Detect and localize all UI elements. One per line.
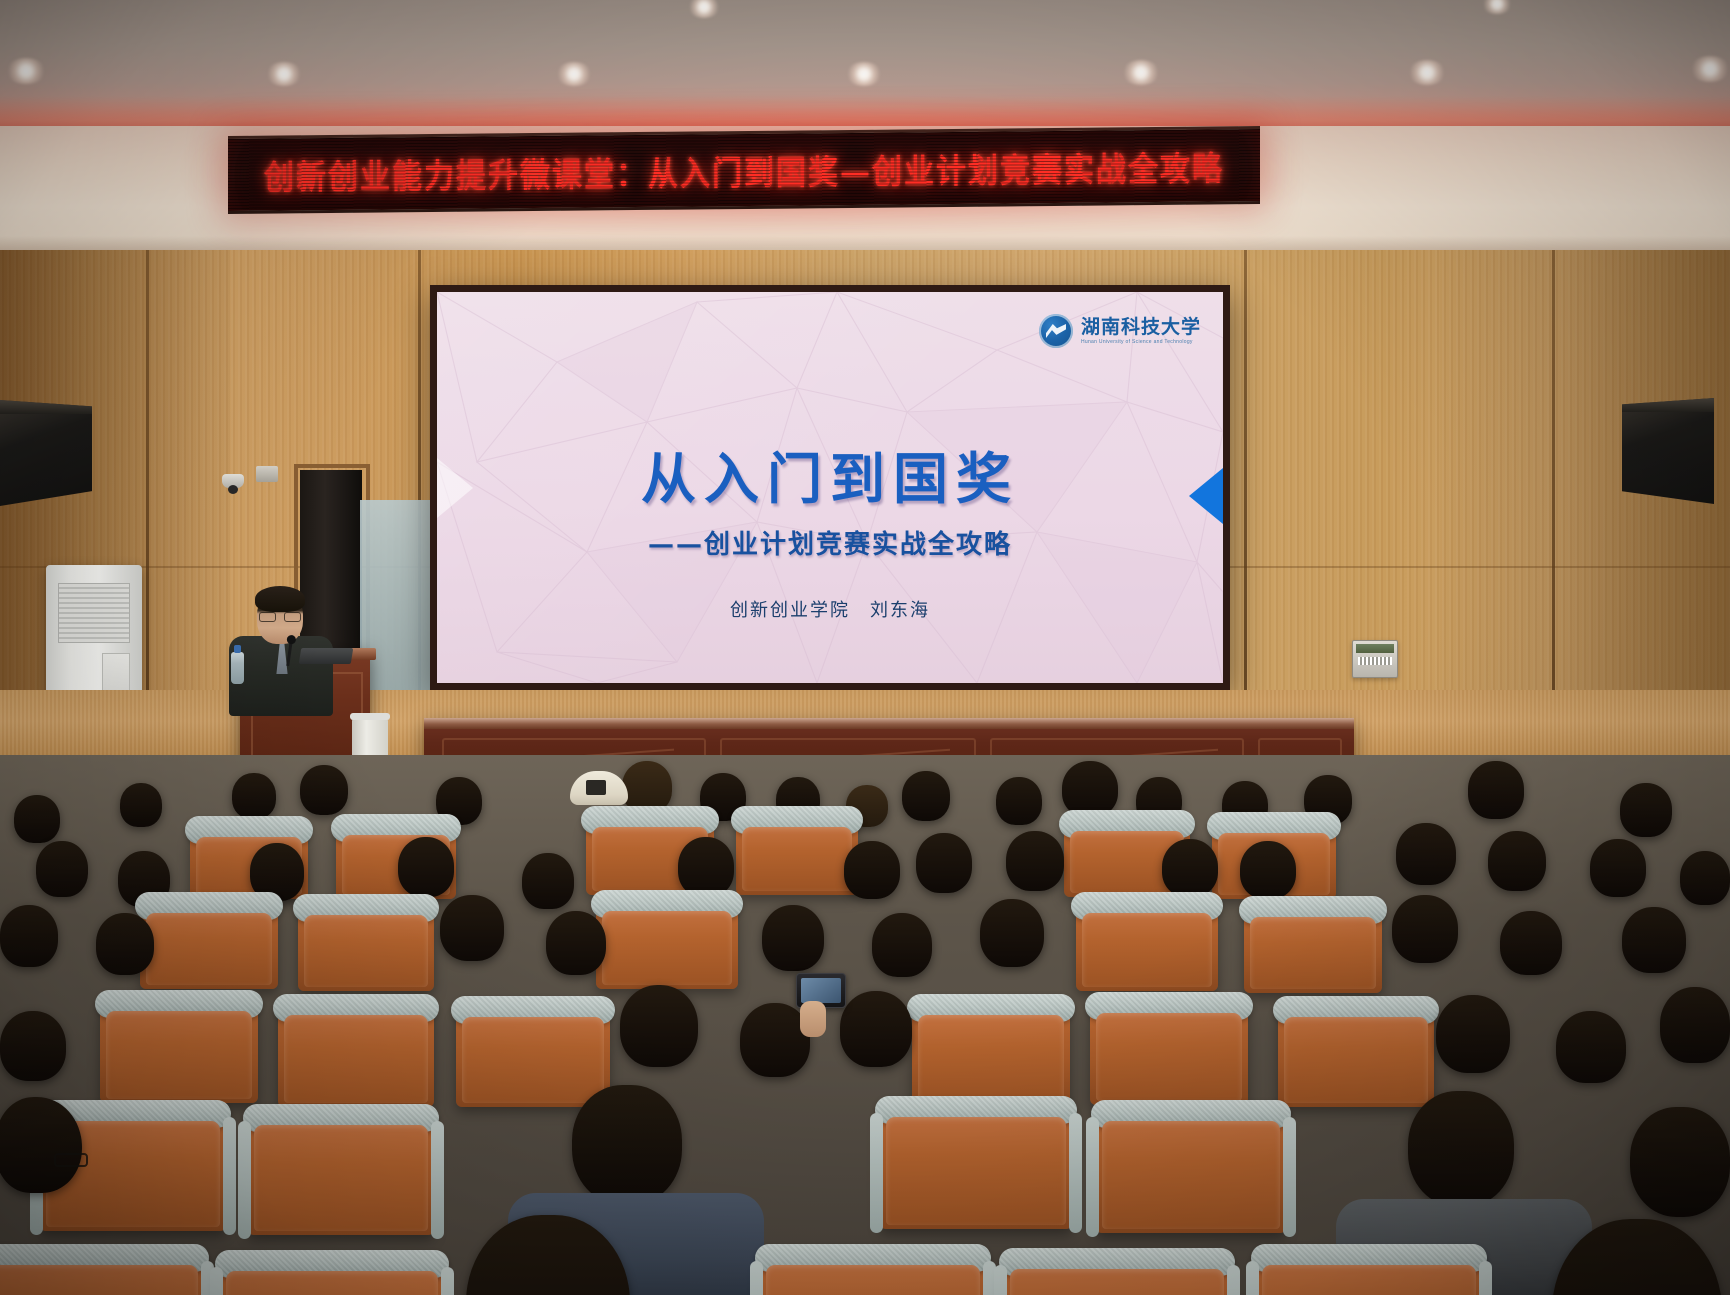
seat-back: [254, 1125, 428, 1231]
seat-armrest: [1479, 1261, 1492, 1295]
seat-back: [1102, 1121, 1280, 1229]
attendee-head: [980, 899, 1044, 967]
auditorium-seat[interactable]: [220, 1261, 444, 1295]
attendee-head: [1680, 851, 1730, 905]
university-name-cn: 湖南科技大学: [1081, 318, 1201, 337]
downlight-icon: [1408, 60, 1446, 85]
attendee-head: [572, 1085, 682, 1205]
attendee-head: [1622, 907, 1686, 973]
projection-screen-frame: 湖南科技大学 Hunan University of Science and T…: [430, 285, 1230, 690]
attendee-head: [440, 895, 504, 961]
seat-armrest: [1283, 1117, 1296, 1237]
seat-armrest: [994, 1265, 1007, 1295]
lecture-hall-photo: 创新创业能力提升微课堂：从入门到国奖—创业计划竞赛实战全攻略: [0, 0, 1730, 1295]
slide-subtitle: ——创业计划竞赛实战全攻略: [437, 524, 1223, 561]
attendee-head: [1660, 987, 1730, 1063]
white-cap: [570, 771, 628, 805]
university-emblem-icon: [1039, 314, 1073, 348]
led-banner: 创新创业能力提升微课堂：从入门到国奖—创业计划竞赛实战全攻略: [228, 126, 1260, 214]
auditorium-seat[interactable]: [1004, 1259, 1230, 1295]
seat-back: [766, 1265, 980, 1295]
attendee-head: [1500, 911, 1562, 975]
auditorium-seat[interactable]: [1256, 1255, 1482, 1295]
ac-grill: [58, 583, 130, 643]
led-banner-text: 创新创业能力提升微课堂：从入门到国奖—创业计划竞赛实战全攻略: [264, 141, 1224, 199]
wall-speaker-right: [1622, 398, 1714, 504]
auditorium-seat[interactable]: [0, 1255, 204, 1295]
seat-back: [886, 1117, 1066, 1225]
auditorium-seat[interactable]: [736, 817, 858, 895]
seat-armrest: [1246, 1261, 1259, 1295]
security-camera-icon: [222, 474, 244, 488]
auditorium-seat[interactable]: [1096, 1111, 1286, 1233]
stage-table-top: [424, 718, 1354, 729]
hand-holding-phone: [800, 1001, 826, 1037]
downlight-icon: [846, 62, 882, 86]
attendee-head: [1006, 831, 1064, 891]
auditorium-seat[interactable]: [140, 903, 278, 989]
door-sign: [256, 466, 278, 482]
attendee-head: [546, 911, 606, 975]
seat-armrest: [870, 1113, 883, 1233]
auditorium-seat[interactable]: [248, 1115, 434, 1235]
auditorium-seat[interactable]: [760, 1255, 986, 1295]
attendee-glasses-icon: [54, 1153, 88, 1167]
auditorium-seat[interactable]: [456, 1007, 610, 1107]
laptop: [299, 648, 354, 664]
attendee-head: [120, 783, 162, 827]
seat-armrest: [1069, 1113, 1082, 1233]
side-wall-panel: [360, 500, 438, 706]
seat-armrest: [441, 1267, 454, 1295]
attendee-head: [0, 905, 58, 967]
university-name-en: Hunan University of Science and Technolo…: [1081, 340, 1201, 345]
wall-control-panel[interactable]: [1352, 640, 1398, 678]
attendee-head: [872, 913, 932, 977]
attendee-head: [300, 765, 348, 815]
attendee-head: [14, 795, 60, 843]
attendee-head: [620, 985, 698, 1067]
seat-back: [1010, 1269, 1224, 1295]
attendee-head: [1556, 1011, 1626, 1083]
presenter-hair: [255, 586, 305, 612]
seat-back: [1082, 913, 1212, 987]
attendee-head: [1590, 839, 1646, 897]
attendee-head: [1062, 761, 1118, 817]
attendee-head: [902, 771, 950, 821]
downlight-icon: [1690, 56, 1730, 82]
seat-back: [462, 1017, 604, 1103]
auditorium-seat[interactable]: [278, 1005, 434, 1107]
attendee-head: [0, 1011, 66, 1081]
seat-back: [602, 911, 732, 985]
seat-armrest: [238, 1121, 251, 1239]
attendee-head: [916, 833, 972, 893]
seat-armrest: [431, 1121, 444, 1239]
auditorium-seat[interactable]: [1244, 907, 1382, 993]
seat-back: [1250, 917, 1376, 989]
auditorium-seat[interactable]: [912, 1005, 1070, 1107]
slide-title: 从入门到国奖: [437, 434, 1223, 514]
attendee-head: [1468, 761, 1524, 819]
seat-armrest: [223, 1117, 236, 1235]
auditorium-seat[interactable]: [880, 1107, 1072, 1229]
auditorium-seat[interactable]: [1090, 1003, 1248, 1105]
seat-back: [742, 827, 852, 891]
seat-back: [1284, 1017, 1428, 1103]
auditorium-seat[interactable]: [596, 901, 738, 989]
auditorium-seat[interactable]: [298, 905, 434, 991]
attendee-head: [1240, 841, 1296, 899]
presenter-glasses-icon: [259, 612, 301, 620]
seat-back: [226, 1271, 438, 1295]
downlight-icon: [1122, 60, 1160, 85]
downlight-icon: [6, 58, 46, 84]
attendee-head: [1162, 839, 1218, 897]
attendee-head: [1408, 1091, 1514, 1207]
seat-armrest: [1227, 1265, 1240, 1295]
attendee-head: [844, 841, 900, 899]
slide-presenter: 创新创业学院 刘东海: [437, 596, 1223, 622]
attendee-head: [1396, 823, 1456, 885]
downlight-icon: [556, 62, 592, 86]
seat-back: [918, 1015, 1064, 1103]
seat-back: [0, 1265, 198, 1295]
seat-armrest: [1086, 1117, 1099, 1237]
water-bottle: [231, 652, 244, 684]
auditorium-seat[interactable]: [100, 1001, 258, 1103]
attendee-head: [96, 913, 154, 975]
attendee-head: [398, 837, 454, 897]
wall-speaker-left: [0, 400, 92, 506]
auditorium-seat[interactable]: [1076, 903, 1218, 991]
attendee-head: [1620, 783, 1672, 837]
attendee-head: [678, 837, 734, 897]
seat-back: [1262, 1265, 1476, 1295]
attendee-head: [1392, 895, 1458, 963]
seat-armrest: [210, 1267, 223, 1295]
attendee-head: [36, 841, 88, 897]
university-logo: 湖南科技大学 Hunan University of Science and T…: [1039, 314, 1201, 348]
seat-back: [146, 913, 272, 985]
projection-screen: 湖南科技大学 Hunan University of Science and T…: [437, 292, 1223, 683]
seat-back: [106, 1011, 252, 1099]
seat-back: [284, 1015, 428, 1103]
attendee-head: [232, 773, 276, 819]
attendee-head: [996, 777, 1042, 825]
audience-area: [0, 755, 1730, 1295]
attendee-head: [1488, 831, 1546, 891]
seat-back: [1096, 1013, 1242, 1101]
attendee-head: [762, 905, 824, 971]
attendee-head: [1436, 995, 1510, 1073]
attendee-head: [522, 853, 574, 909]
seat-back: [304, 915, 428, 987]
auditorium-seat[interactable]: [1278, 1007, 1434, 1107]
seat-armrest: [750, 1261, 763, 1295]
attendee-head: [1630, 1107, 1730, 1217]
downlight-icon: [266, 62, 302, 86]
attendee-head: [840, 991, 912, 1067]
university-logo-text: 湖南科技大学 Hunan University of Science and T…: [1081, 318, 1201, 345]
